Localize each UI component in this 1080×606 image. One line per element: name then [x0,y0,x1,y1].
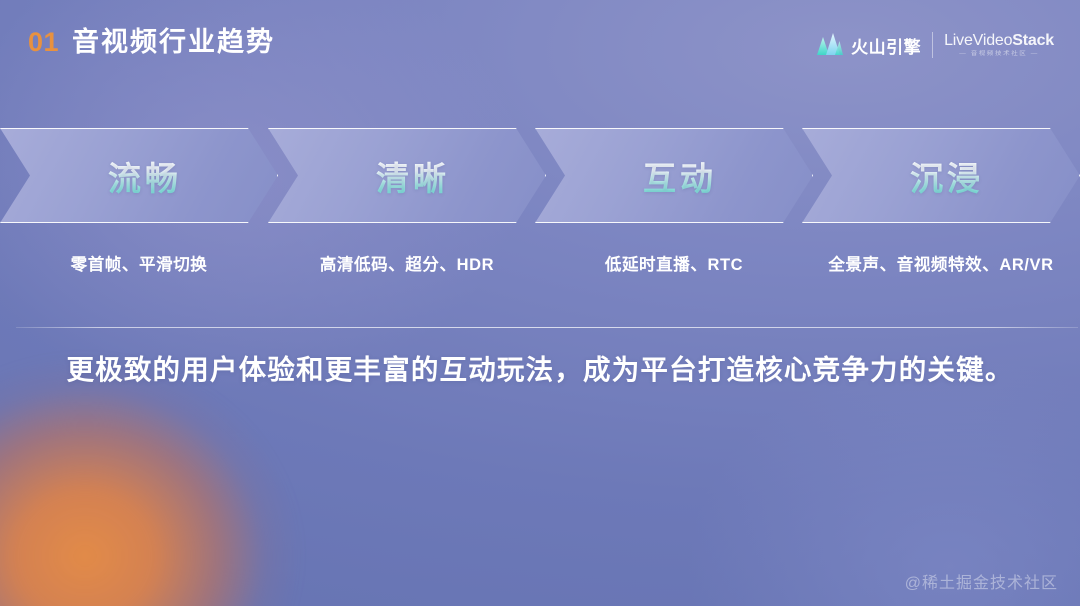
stage-caption-1: 零首帧、平滑切换 [0,248,278,278]
brand-lvs-light: LiveVideo [944,32,1012,49]
horizontal-divider [16,327,1078,328]
watermark: @稀土掘金技术社区 [905,569,1058,593]
slide-header: 01 音视频行业趋势 [0,0,1080,84]
brand-livevideostack-subtitle: — 音视频技术社区 — [959,51,1039,57]
page-title-text: 音视频行业趋势 [72,20,275,59]
stage-chevron-1: 流畅 [0,128,278,223]
stage-caption-4: 全景声、音视频特效、AR/VR [802,248,1080,278]
brand-lockup: 火山引擎 LiveVideoStack — 音视频技术社区 — [814,28,1054,62]
background-tint-bottom-right [600,286,1080,606]
stage-chevron-2: 清晰 [268,128,546,223]
brand-volcano-name: 火山引擎 [851,33,921,58]
brand-lvs-bold: Stack [1012,32,1054,49]
slide-canvas: 01 音视频行业趋势 [0,0,1080,606]
stage-chevron-label-3: 互动 [643,152,717,200]
page-title-number: 01 [28,27,59,58]
brand-livevideostack: LiveVideoStack — 音视频技术社区 — [944,33,1054,58]
stage-chevron-label-1: 流畅 [108,152,182,200]
stage-chevron-4: 沉浸 [802,128,1080,223]
stage-chevron-band: 流畅 清晰 互动 沉浸 [0,128,1080,223]
stage-caption-3: 低延时直播、RTC [535,248,813,278]
stage-caption-row: 零首帧、平滑切换 高清低码、超分、HDR 低延时直播、RTC 全景声、音视频特效… [0,248,1080,278]
brand-divider [932,32,933,58]
page-title: 01 音视频行业趋势 [28,20,275,59]
stage-chevron-label-4: 沉浸 [910,152,984,200]
background-orange-glow [0,356,300,606]
brand-livevideostack-name: LiveVideoStack [944,33,1054,49]
stage-caption-2: 高清低码、超分、HDR [268,248,546,278]
stage-chevron-3: 互动 [535,128,813,223]
summary-statement: 更极致的用户体验和更丰富的互动玩法，成为平台打造核心竞争力的关键。 [0,352,1080,388]
mountain-logo-icon [814,30,844,61]
stage-chevron-label-2: 清晰 [376,152,450,200]
brand-volcano-engine: 火山引擎 [814,30,921,61]
